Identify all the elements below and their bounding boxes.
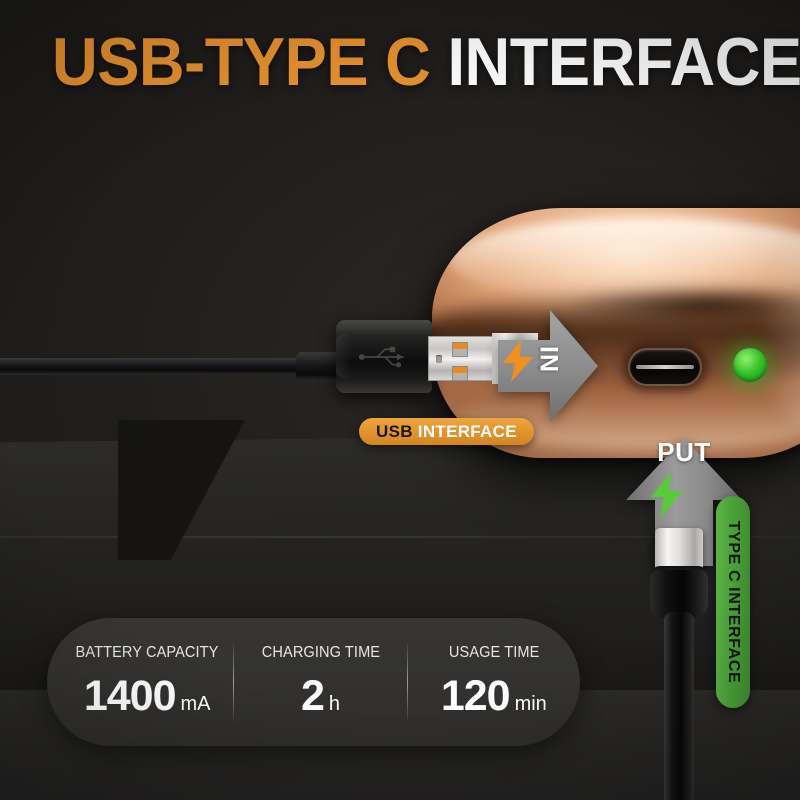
- type-c-cable-vertical: [664, 612, 694, 800]
- spec-value: 120: [441, 672, 510, 721]
- usb-cable-horizontal: [0, 358, 340, 375]
- spec-value: 1400: [84, 672, 176, 721]
- spec-item-battery-capacity: BATTERY CAPACITY 1400 mA: [47, 618, 233, 746]
- usb-trident-icon: [355, 343, 413, 371]
- lightning-bolt-green-icon: [649, 472, 685, 518]
- spec-item-charging-time: CHARGING TIME 2 h: [234, 618, 406, 746]
- product-poster: USB-TYPE C INTERFACE: [0, 0, 800, 800]
- usb-c-port-inner-bar: [636, 365, 694, 369]
- page-title: USB-TYPE C INTERFACE: [52, 28, 800, 96]
- type-c-plug-boot: [650, 570, 708, 618]
- title-rest: INTERFACE: [430, 24, 800, 100]
- spec-item-usage-time: USAGE TIME 120 min: [408, 618, 580, 746]
- put-arrow-label: PUT: [640, 437, 728, 468]
- spec-value-group: 120 min: [441, 672, 547, 721]
- type-c-badge-label: TYPE C INTERFACE: [724, 502, 742, 702]
- spec-value-group: 2 h: [301, 672, 340, 721]
- in-arrow-label: IN: [534, 336, 563, 384]
- lightning-bolt-orange-icon: [501, 340, 535, 382]
- spec-label: BATTERY CAPACITY: [76, 644, 219, 662]
- usb-badge-prefix: USB: [376, 422, 413, 442]
- spec-value-group: 1400 mA: [84, 672, 211, 721]
- spec-value: 2: [301, 672, 324, 721]
- usb-c-port: [628, 348, 702, 386]
- spec-label: CHARGING TIME: [261, 644, 379, 662]
- title-highlight: USB-TYPE C: [52, 24, 430, 100]
- spec-unit: min: [515, 693, 547, 716]
- usb-badge-suffix: INTERFACE: [418, 422, 517, 442]
- charging-led-icon: [733, 348, 767, 382]
- usb-a-shell-hole: [436, 355, 442, 363]
- spec-label: USAGE TIME: [449, 644, 540, 662]
- spec-unit: mA: [181, 693, 211, 716]
- specs-panel: BATTERY CAPACITY 1400 mA CHARGING TIME 2…: [47, 618, 580, 746]
- type-c-interface-badge: TYPE C INTERFACE: [716, 496, 750, 708]
- spec-unit: h: [329, 693, 340, 716]
- surface-corner-shadow: [118, 420, 318, 560]
- usb-a-plug-bevel: [336, 334, 352, 378]
- usb-a-contact-pad-top: [452, 342, 468, 357]
- usb-interface-badge: USB INTERFACE: [359, 418, 534, 445]
- usb-a-contact-pad-bottom: [452, 366, 468, 381]
